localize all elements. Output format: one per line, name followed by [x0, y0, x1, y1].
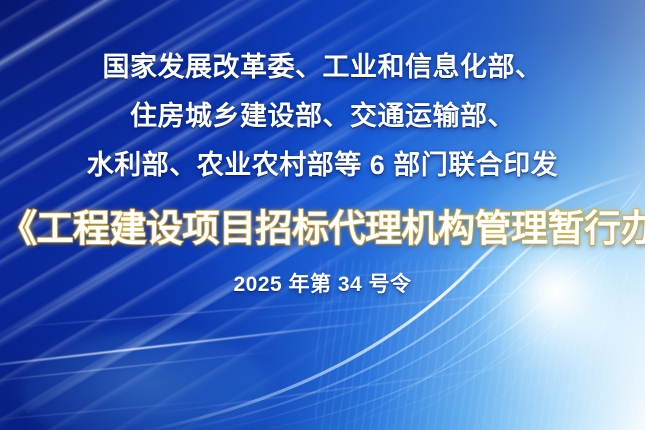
headline-line-2: 住房城乡建设部、交通运输部、	[0, 101, 645, 131]
headline-line-3: 水利部、农业农村部等 6 部门联合印发	[0, 150, 645, 180]
document-title: 《工程建设项目招标代理机构管理暂行办法》	[0, 207, 645, 251]
banner-text-layer: 国家发展改革委、工业和信息化部、 住房城乡建设部、交通运输部、 水利部、农业农村…	[0, 0, 645, 430]
decree-number: 2025 年第 34 号令	[0, 272, 645, 298]
headline-line-1: 国家发展改革委、工业和信息化部、	[0, 52, 645, 82]
banner-image: 国家发展改革委、工业和信息化部、 住房城乡建设部、交通运输部、 水利部、农业农村…	[0, 0, 645, 430]
